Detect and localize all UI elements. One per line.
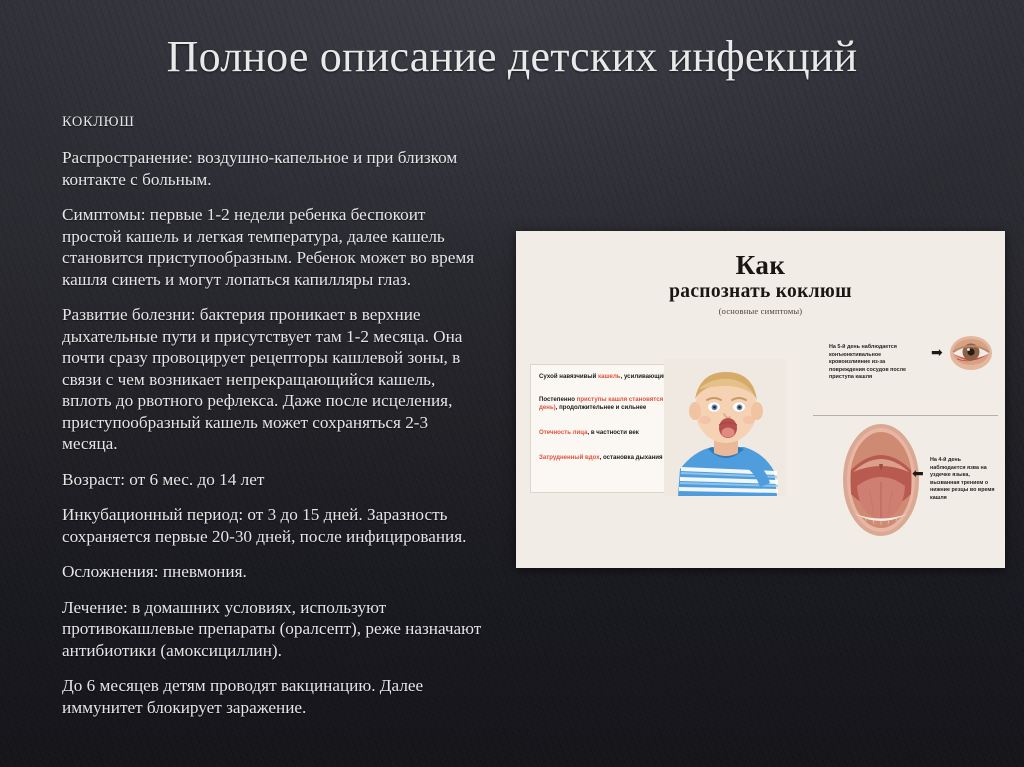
conjunctival-hemorrhage-eye-illustration <box>949 335 993 371</box>
symptom-text-rest: , продолжительнее и сильнее <box>556 404 647 411</box>
mouth-symptom-note: На 4-й день наблюдается язва на уздечке … <box>930 457 996 503</box>
paragraph-transmission: Распространение: воздушно-капельное и пр… <box>62 147 482 190</box>
paragraph-disease-course: Развитие болезни: бактерия проникает в в… <box>62 304 482 455</box>
infographic-divider <box>813 415 998 416</box>
symptom-text-rest: , остановка дыхания <box>600 454 663 461</box>
arrow-left-icon: ⬅ <box>912 468 924 480</box>
paragraph-symptoms: Симптомы: первые 1-2 недели ребенка бесп… <box>62 204 482 290</box>
open-mouth-tongue-ulcer-illustration <box>843 424 919 536</box>
symptom-text-prefix: Постепенно <box>539 396 577 403</box>
symptom-text-highlight: кашель <box>598 373 621 380</box>
arrow-right-icon: ➡ <box>931 347 943 359</box>
symptom-text-highlight: Отечность лица <box>539 429 587 436</box>
paragraph-vaccination: До 6 месяцев детям проводят вакцинацию. … <box>62 675 482 718</box>
body-text-column: КОКЛЮШ Распространение: воздушно-капельн… <box>62 113 482 732</box>
infographic-title-sub: распознать коклюш <box>516 280 1005 303</box>
infographic-title-block: Как распознать коклюш (основные симптомы… <box>516 251 1005 317</box>
eye-symptom-note: На 5-й день наблюдается конъюнктивальное… <box>829 344 922 382</box>
symptom-text-highlight: Затрудненный вдох <box>539 454 600 461</box>
presentation-slide: Полное описание детских инфекций КОКЛЮШ … <box>0 0 1024 767</box>
infographic-panel: Как распознать коклюш (основные симптомы… <box>516 231 1005 568</box>
paragraph-age: Возраст: от 6 мес. до 14 лет <box>62 469 482 491</box>
symptom-text-rest: , в частности век <box>587 429 638 436</box>
coughing-baby-photo <box>664 359 786 496</box>
section-heading: КОКЛЮШ <box>62 113 482 131</box>
paragraph-complications: Осложнения: пневмония. <box>62 561 482 583</box>
infographic-title-main: Как <box>516 251 1005 280</box>
infographic-title-note: (основные симптомы) <box>516 305 1005 317</box>
symptom-text-prefix: Сухой навязчивый <box>539 373 598 380</box>
page-title: Полное описание детских инфекций <box>60 31 964 83</box>
paragraph-treatment: Лечение: в домашних условиях, используют… <box>62 597 482 662</box>
paragraph-incubation: Инкубационный период: от 3 до 15 дней. З… <box>62 504 482 547</box>
